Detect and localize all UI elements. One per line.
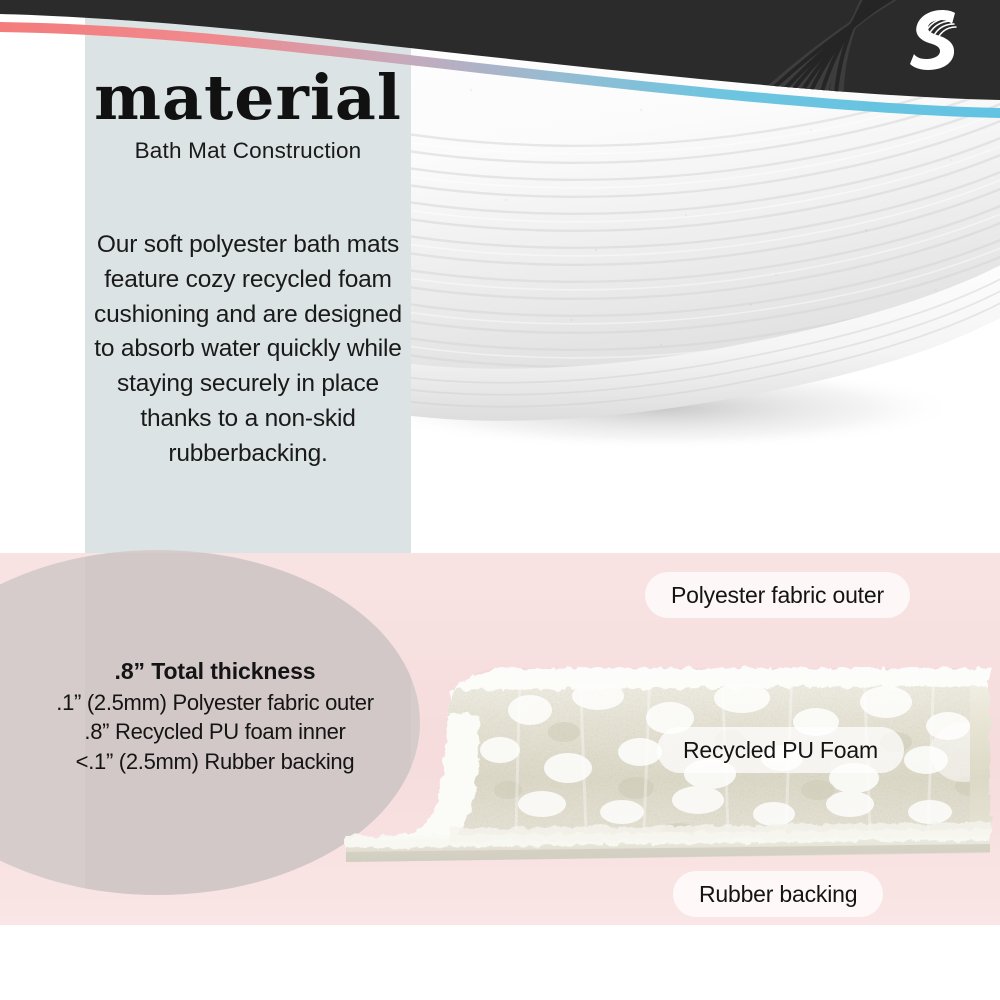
material-infographic: material Bath Mat Construction Our soft … [0, 0, 1000, 1000]
brand-logo [890, 2, 970, 74]
callout-recycled-pu-foam: Recycled PU Foam [657, 727, 904, 773]
total-thickness-label: .8” Total thickness [20, 658, 410, 685]
spec-line-fabric: .1” (2.5mm) Polyester fabric outer [20, 688, 410, 717]
spec-line-foam: .8” Recycled PU foam inner [20, 717, 410, 746]
bottom-white-strip [0, 925, 1000, 1000]
page-subtitle: Bath Mat Construction [85, 138, 411, 164]
spec-line-rubber: <.1” (2.5mm) Rubber backing [20, 747, 410, 776]
description-text: Our soft polyester bath mats feature coz… [85, 228, 411, 471]
title-block: material Bath Mat Construction [85, 68, 411, 164]
thickness-spec-block: .8” Total thickness .1” (2.5mm) Polyeste… [20, 658, 410, 776]
callout-polyester-fabric-outer: Polyester fabric outer [645, 572, 910, 618]
page-title: material [82, 68, 415, 129]
callout-rubber-backing: Rubber backing [673, 871, 883, 917]
